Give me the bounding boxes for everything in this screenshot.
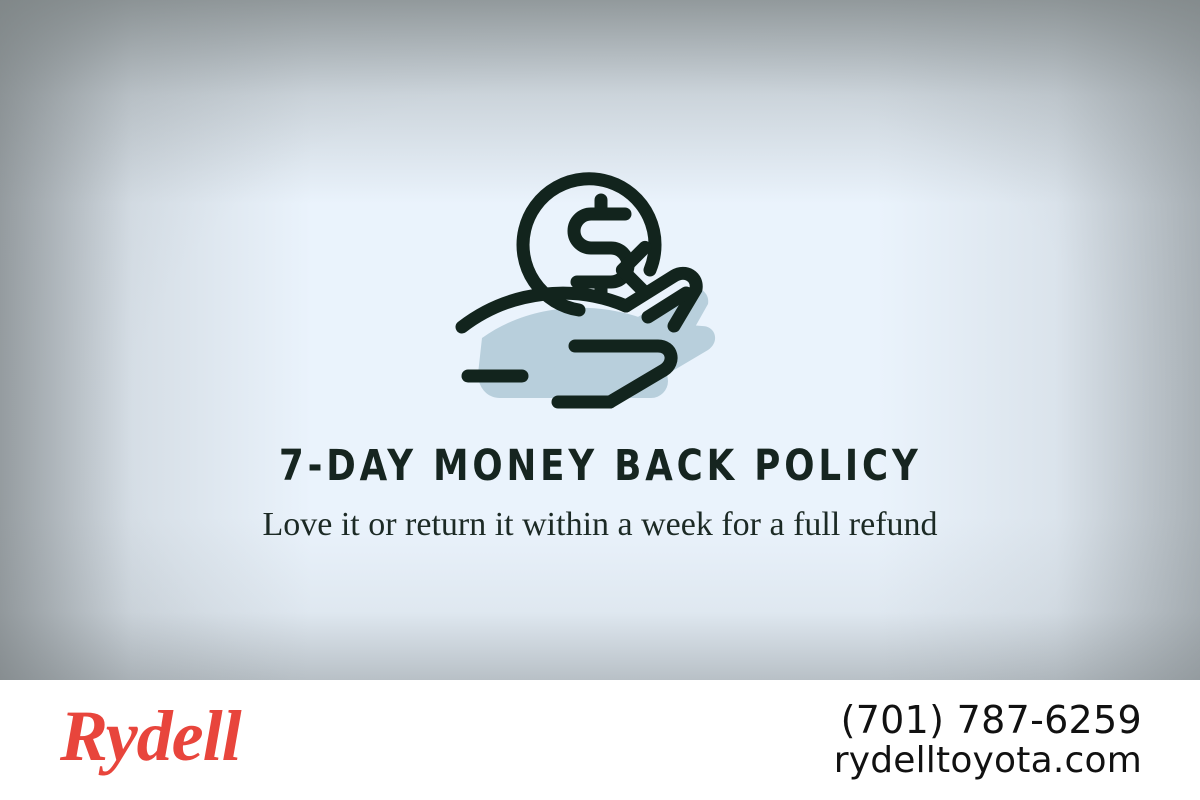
promo-panel: 7-DAY MONEY BACK POLICY Love it or retur… — [0, 0, 1200, 680]
promo-content: 7-DAY MONEY BACK POLICY Love it or retur… — [0, 0, 1200, 680]
website-url[interactable]: rydelltoyota.com — [834, 741, 1142, 781]
money-back-policy-promo-card: 7-DAY MONEY BACK POLICY Love it or retur… — [0, 0, 1200, 800]
phone-number[interactable]: (701) 787-6259 — [834, 699, 1142, 742]
contact-block: (701) 787-6259 rydelltoyota.com — [834, 699, 1142, 782]
page-title: 7-DAY MONEY BACK POLICY — [279, 444, 922, 489]
dollar-symbol — [574, 200, 628, 297]
footer-bar: Rydell (701) 787-6259 rydelltoyota.com — [0, 680, 1200, 800]
promo-subtitle: Love it or return it within a week for a… — [255, 503, 945, 547]
rydell-logo[interactable]: Rydell — [60, 700, 241, 772]
hand-holding-money-return-icon — [440, 150, 760, 422]
